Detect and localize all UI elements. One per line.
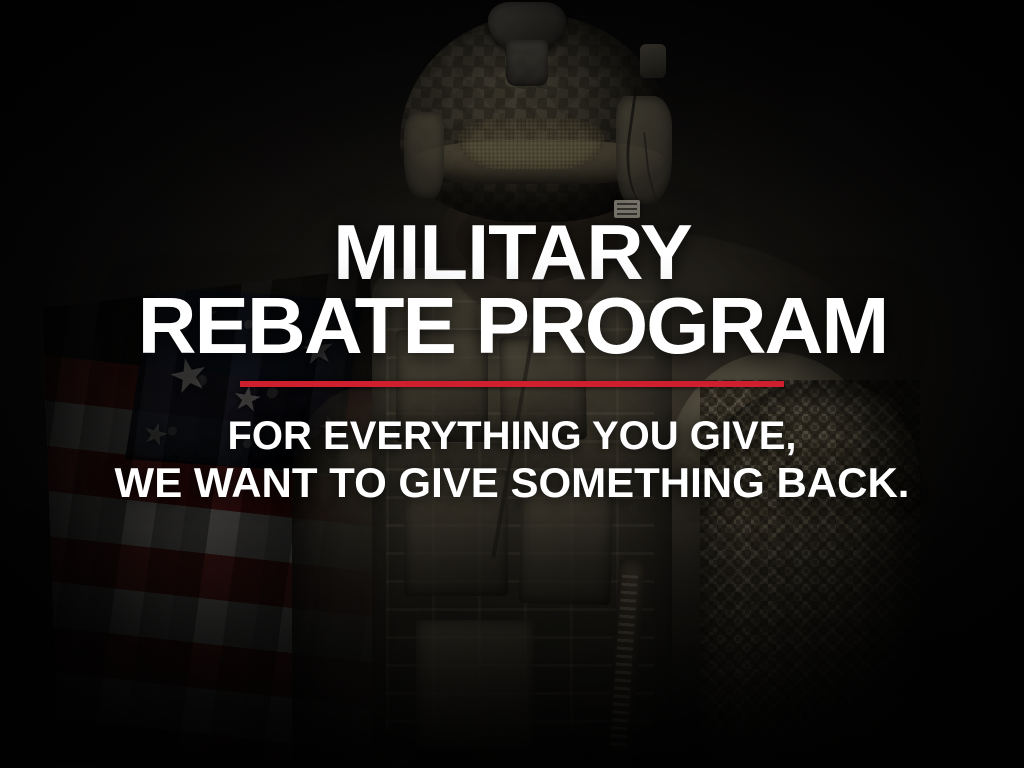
subtitle: FOR EVERYTHING YOU GIVE, WE WANT TO GIVE… xyxy=(115,413,910,507)
page-title: MILITARY REBATE PROGRAM xyxy=(137,216,887,363)
text-overlay: MILITARY REBATE PROGRAM FOR EVERYTHING Y… xyxy=(0,0,1024,768)
headline-line-2: REBATE PROGRAM xyxy=(137,289,887,363)
subtitle-line-2: WE WANT TO GIVE SOMETHING BACK. xyxy=(115,459,910,507)
subtitle-line-1: FOR EVERYTHING YOU GIVE, xyxy=(228,414,797,458)
red-divider-rule xyxy=(240,381,784,387)
military-rebate-banner: ★ ★ ★ ★ ★ ★ xyxy=(0,0,1024,768)
